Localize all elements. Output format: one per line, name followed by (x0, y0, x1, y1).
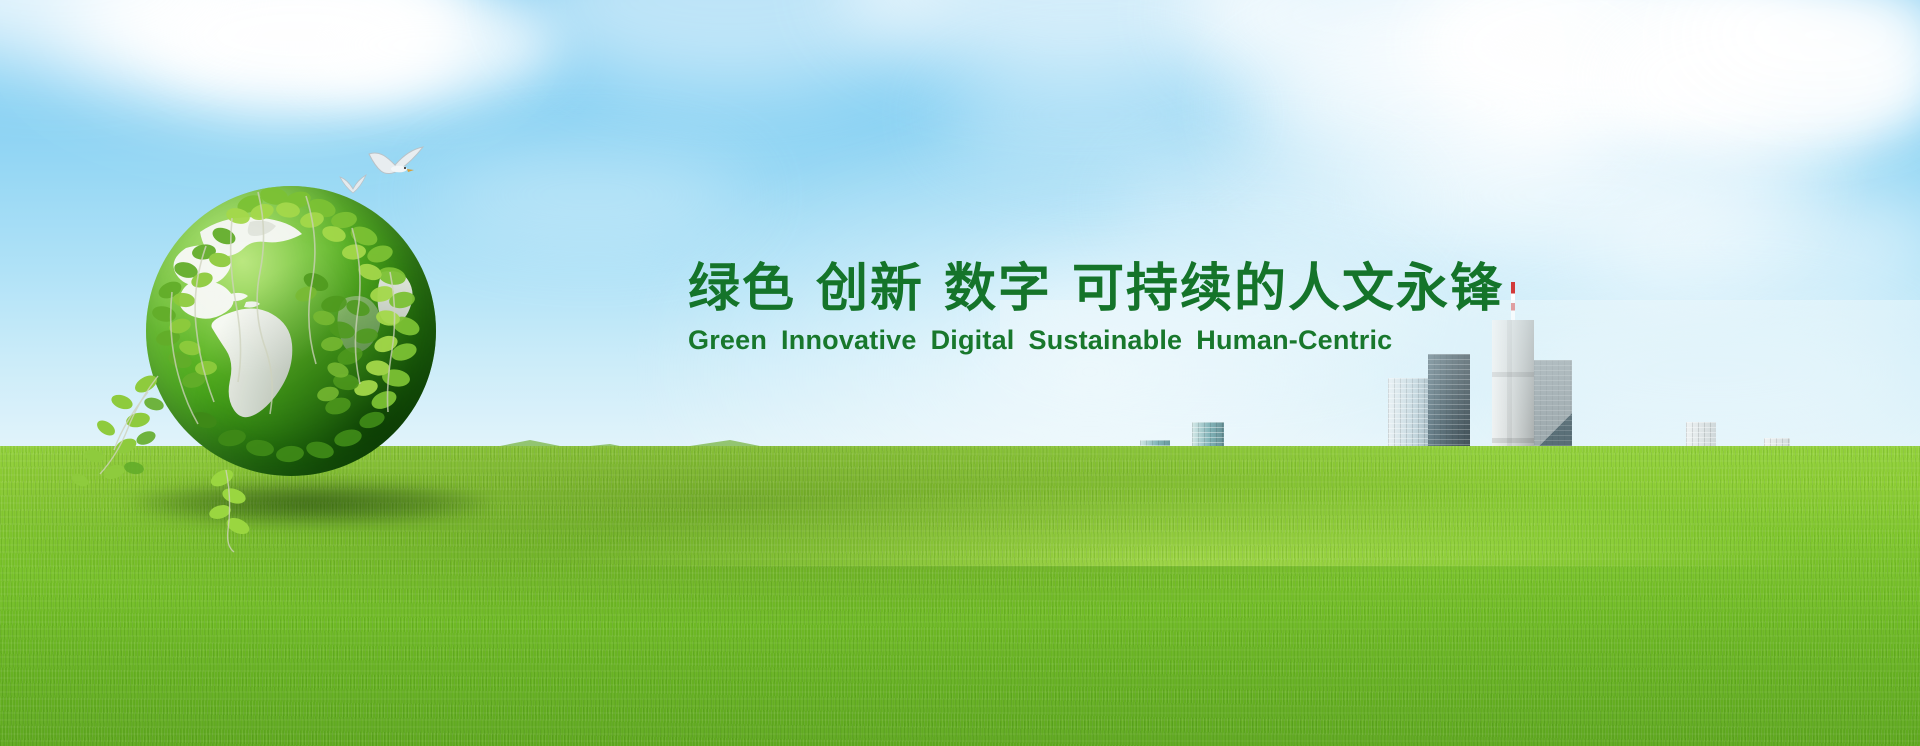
hero-headline-block: 绿色创新数字可持续的人文永锋 GreenInnovativeDigitalSus… (688, 258, 1588, 356)
green-globe (128, 176, 448, 506)
headline-english: GreenInnovativeDigitalSustainableHuman-C… (688, 324, 1588, 356)
globe-vine-leaves (146, 186, 436, 476)
headline-en-word-3: Digital (931, 325, 1015, 355)
headline-en-word-1: Green (688, 325, 767, 355)
headline-en-word-2: Innovative (781, 325, 917, 355)
globe-sphere (146, 186, 436, 476)
headline-cn-word-3: 数字 (944, 260, 1052, 318)
headline-cn-word-1: 绿色 (688, 260, 796, 318)
sprout-leaves (200, 464, 320, 554)
headline-cn-word-2: 创新 (816, 260, 924, 318)
eco-hero-banner: 绿色创新数字可持续的人文永锋 GreenInnovativeDigitalSus… (0, 0, 1920, 746)
headline-cn-word-4: 可持续的人文永锋 (1072, 260, 1504, 318)
headline-en-word-5: Human-Centric (1196, 325, 1392, 355)
headline-en-word-4: Sustainable (1029, 325, 1183, 355)
falling-leaves (50, 372, 170, 522)
headline-chinese: 绿色创新数字可持续的人文永锋 (688, 258, 1588, 320)
